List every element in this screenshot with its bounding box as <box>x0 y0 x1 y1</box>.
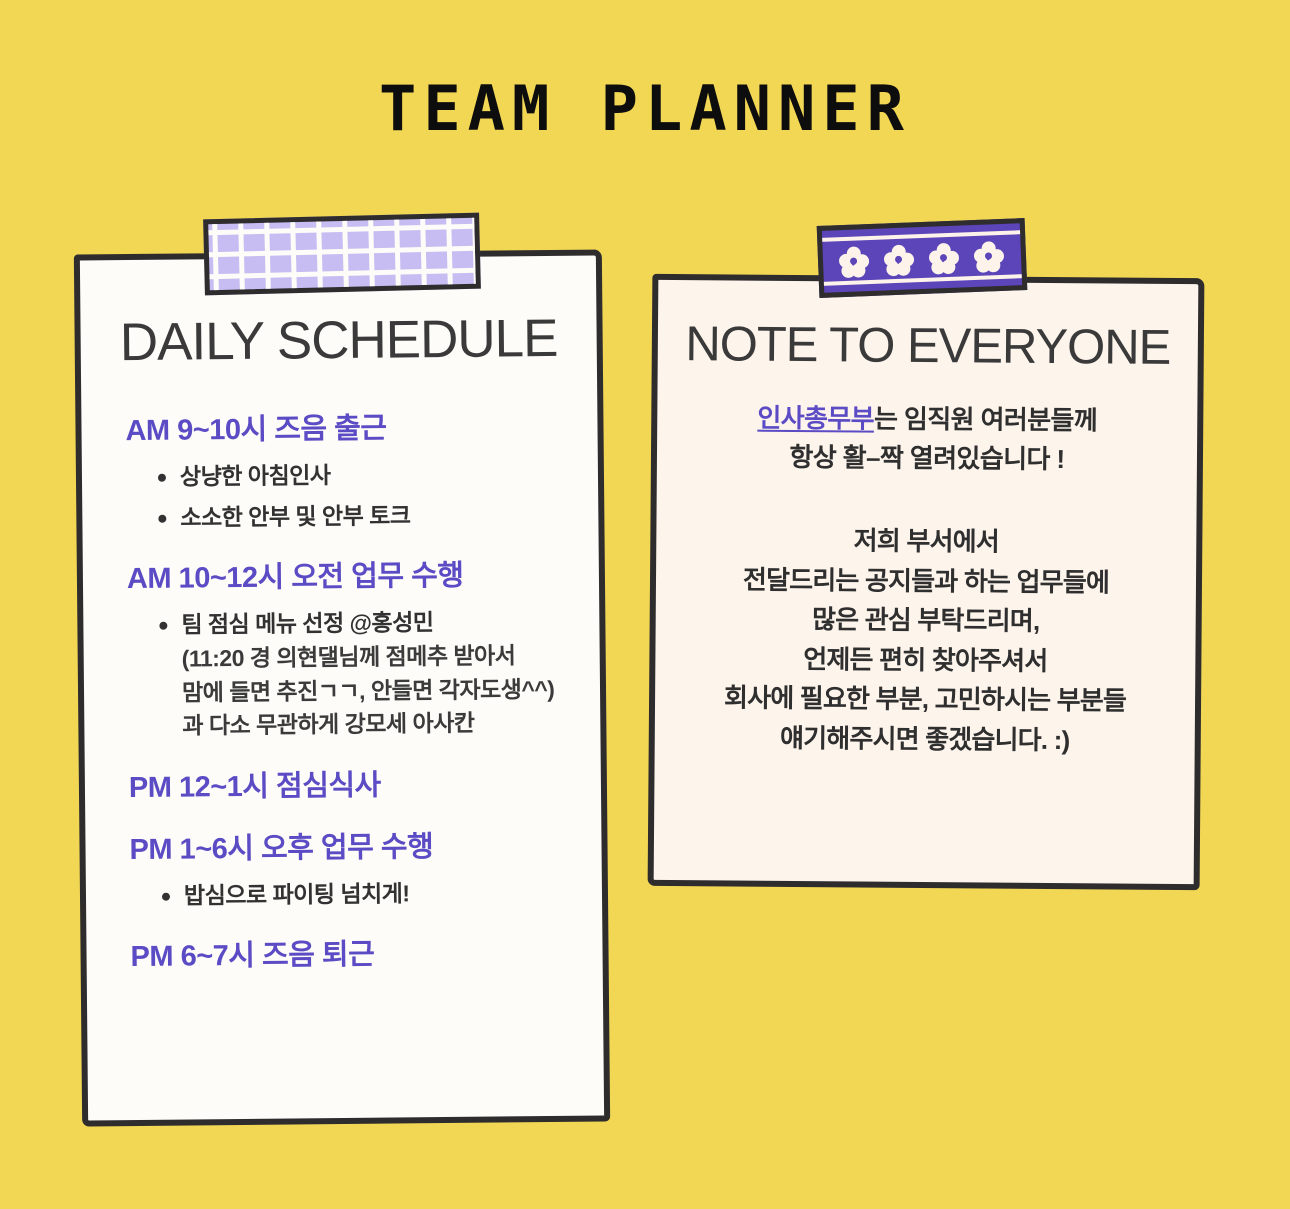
schedule-item: 밥심으로 파이팅 넘치게! <box>158 876 572 913</box>
schedule-item: 상냥한 아침인사 <box>154 457 568 494</box>
schedule-time-heading: PM 1~6시 오후 업무 수행 <box>129 828 571 868</box>
flower-icon <box>973 241 1004 272</box>
daily-schedule-heading: DAILY SCHEDULE <box>80 308 597 374</box>
tape-grid-line <box>368 213 376 296</box>
schedule-time-heading: PM 12~1시 점심식사 <box>129 765 571 805</box>
hr-department-link[interactable]: 인사총무부 <box>757 403 874 434</box>
schedule-item-list: 밥심으로 파이팅 넘치게! <box>130 876 572 913</box>
note-lead-text: 인사총무부는 임직원 여러분들께 항상 활–짝 열려있습니다 ! <box>691 398 1164 480</box>
schedule-item-list: 팀 점심 메뉴 선정 @홍성민(11:20 경 의현댈님께 점메추 받아서 맘에… <box>127 605 570 744</box>
note-card-body: 인사총무부는 임직원 여러분들께 항상 활–짝 열려있습니다 ! 저희 부서에서… <box>655 398 1198 761</box>
schedule-item-label: 소소한 안부 및 안부 토크 <box>180 502 410 530</box>
schedule-item: 소소한 안부 및 안부 토크 <box>154 498 568 535</box>
tape-grid-line <box>342 213 350 296</box>
grid-tape-decoration <box>203 213 481 296</box>
schedule-item-label: 팀 점심 메뉴 선정 @홍성민 <box>181 609 433 637</box>
schedule-block: AM 9~10시 즈음 출근상냥한 아침인사소소한 안부 및 안부 토크 <box>125 409 568 535</box>
note-card: NOTE TO EVERYONE 인사총무부는 임직원 여러분들께 항상 활–짝… <box>648 274 1205 890</box>
note-card-heading: NOTE TO EVERYONE <box>658 316 1198 376</box>
schedule-block: AM 10~12시 오전 업무 수행팀 점심 메뉴 선정 @홍성민(11:20 … <box>127 556 571 743</box>
schedule-item-list: 상냥한 아침인사소소한 안부 및 안부 토크 <box>126 457 569 535</box>
flower-icon <box>928 243 959 274</box>
schedule-block: PM 1~6시 오후 업무 수행밥심으로 파이팅 넘치게! <box>129 828 572 913</box>
schedule-item-label: 밥심으로 파이팅 넘치게! <box>184 880 410 908</box>
flower-tape-decoration <box>817 218 1028 298</box>
tape-stripe <box>817 228 1028 242</box>
schedule-block: PM 6~7시 즈음 퇴근 <box>130 934 572 974</box>
schedule-item-label: 상냥한 아침인사 <box>180 462 331 489</box>
page-title: TEAM PLANNER <box>0 78 1290 140</box>
flower-icon <box>883 244 914 275</box>
schedule-time-heading: AM 9~10시 즈음 출근 <box>125 409 567 449</box>
daily-schedule-card: DAILY SCHEDULE AM 9~10시 즈음 출근상냥한 아침인사소소한… <box>74 249 610 1126</box>
schedule-block: PM 12~1시 점심식사 <box>129 765 571 805</box>
tape-grid-line <box>203 262 481 280</box>
schedule-item-note: (11:20 경 의현댈님께 점메추 받아서 맘에 들면 추진ㄱㄱ, 안들면 각… <box>182 639 571 743</box>
schedule-time-heading: PM 6~7시 즈음 퇴근 <box>130 934 572 974</box>
schedule-time-heading: AM 10~12시 오전 업무 수행 <box>127 556 569 596</box>
flower-icon <box>839 246 870 277</box>
schedule-item: 팀 점심 메뉴 선정 @홍성민(11:20 경 의현댈님께 점메추 받아서 맘에… <box>155 605 570 744</box>
note-paragraph: 저희 부서에서 전달드리는 공지들과 하는 업무들에 많은 관심 부탁드리며, … <box>689 520 1163 761</box>
schedule-list: AM 9~10시 즈음 출근상냥한 아침인사소소한 안부 및 안부 토크AM 1… <box>81 409 602 976</box>
